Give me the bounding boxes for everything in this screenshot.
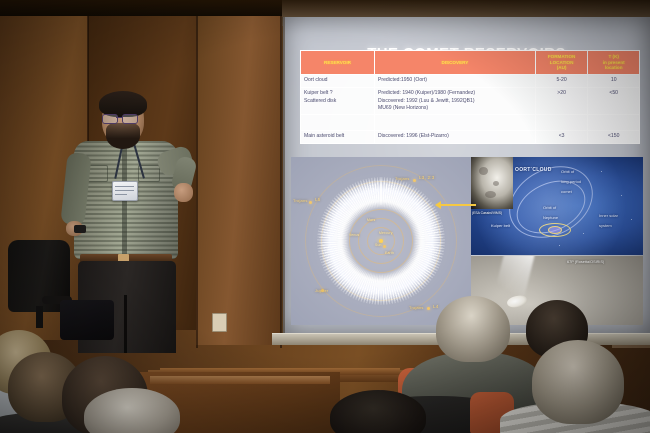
label-trojans-left: Trojans (293, 198, 308, 203)
label-mercury: Mercury (379, 231, 393, 235)
cell-reservoir: Main asteroid belt (301, 130, 375, 143)
star-speck (621, 195, 622, 196)
cell-location: <3 (535, 130, 588, 143)
presenter-hand-right (174, 183, 193, 202)
label-trojans-bottom: Trojans (409, 305, 424, 310)
table-spacer-row (301, 115, 640, 130)
table-row: Kuiper belt ? Scattered disk Predicted: … (301, 87, 640, 115)
trouser-split (124, 295, 127, 353)
table-row: Oort cloud Predicted:1950 (Oort) 5-20 10 (301, 75, 640, 88)
inner-solar-system-core (548, 226, 562, 234)
trojan-dot-l4 (427, 307, 430, 310)
cell-discovery: Discovered: 1996 (Elst-Pizarro) (375, 130, 536, 143)
label-sun: Sun (375, 243, 382, 247)
star-speck (559, 245, 560, 246)
header-temperature: T (K) in present location (588, 51, 640, 75)
cell-temperature: <150 (588, 130, 640, 143)
comet-caption: 67P (Rosetta/OSIRIS) (567, 260, 604, 264)
cell-location: >20 (535, 87, 588, 115)
star-speck (631, 219, 632, 220)
crater (485, 191, 496, 198)
presenter-beard (106, 123, 140, 149)
trojan-dot-l3 (413, 179, 416, 182)
eyeglasses-right-lens (122, 114, 138, 124)
label-venus: Venus (349, 233, 359, 237)
trojan-dot-l5 (309, 201, 312, 204)
header-formation-location: FORMATION LOCATION (AU) (535, 51, 588, 75)
label-l3: L3, 2:3 (419, 175, 434, 180)
presentation-clicker[interactable] (74, 225, 86, 233)
crater (493, 181, 499, 186)
wall-panel-right (196, 0, 282, 345)
desk-top-edge (150, 376, 330, 384)
conference-name-badge (112, 181, 138, 201)
label-inner-solar-system: Inner solar system (599, 213, 618, 228)
planet-dot-saturn (383, 245, 386, 248)
eyeglasses-left-lens (102, 114, 118, 124)
cell-discovery: Predicted:1950 (Oort) (375, 75, 536, 88)
cell-reservoir: Kuiper belt ? Scattered disk (301, 87, 375, 115)
badge-line (115, 194, 127, 195)
badge-line (115, 186, 134, 187)
table-header-row: RESERVOIR DISCOVERY FORMATION LOCATION (… (301, 51, 640, 75)
projection-screen: THE COMET RESERVOIRS RESERVOIR DISCOVERY… (283, 17, 650, 333)
label-orbit-neptune: Orbit of Neptune (543, 205, 558, 220)
label-jupiter: Jupiter (315, 288, 328, 293)
label-long-period-comet: Orbit of long-period comet (561, 169, 581, 194)
cell-temperature: 10 (588, 75, 640, 88)
cell-reservoir: Oort cloud (301, 75, 375, 88)
eyeglasses-bridge (116, 117, 122, 118)
office-chair-stem (36, 306, 43, 328)
label-oort-cloud: OORT CLOUD (515, 167, 552, 173)
crater (479, 167, 488, 175)
star-speck (601, 171, 602, 172)
comet-reservoirs-table: RESERVOIR DISCOVERY FORMATION LOCATION (… (300, 50, 640, 144)
cell-discovery: Predicted: 1940 (Kuiper)/1980 (Fernandez… (375, 87, 536, 115)
audience-head (436, 296, 510, 362)
asteroid-belt-trojans-diagram: Trojans L5 Trojans L3, 2:3 Trojans L4 Ju… (291, 157, 471, 325)
audience-head (532, 340, 624, 424)
label-l5: L5 (315, 197, 321, 202)
pointer-arrow-icon (440, 204, 476, 206)
icy-body-inset-image (471, 157, 513, 209)
inset-caption: (ESA Cassini/VIMS) (472, 211, 502, 215)
wall-seam-2 (196, 0, 198, 348)
label-l4: L4 (433, 304, 439, 309)
cell-temperature: <50 (588, 87, 640, 115)
shirt-placket (122, 145, 127, 257)
star-speck (583, 233, 584, 234)
camera-equipment (60, 300, 114, 340)
wall-light-switch[interactable] (212, 313, 227, 332)
header-reservoir: RESERVOIR (301, 51, 375, 75)
label-mars: Mars (367, 218, 375, 222)
label-earth: Earth (385, 251, 394, 255)
header-discovery: DISCOVERY (375, 51, 536, 75)
label-trojans-top: Trojans (395, 176, 410, 181)
screen-left-edge (281, 17, 285, 335)
lecture-room-scene: THE COMET RESERVOIRS RESERVOIR DISCOVERY… (0, 0, 650, 433)
oort-cloud-diagram: OORT CLOUD Orbit of long-period comet Or… (471, 157, 643, 255)
cell-location: 5-20 (535, 75, 588, 88)
table-row: Main asteroid belt Discovered: 1996 (Els… (301, 130, 640, 143)
label-kuiper-belt: Kuiper belt (491, 223, 510, 228)
badge-line (115, 190, 134, 191)
